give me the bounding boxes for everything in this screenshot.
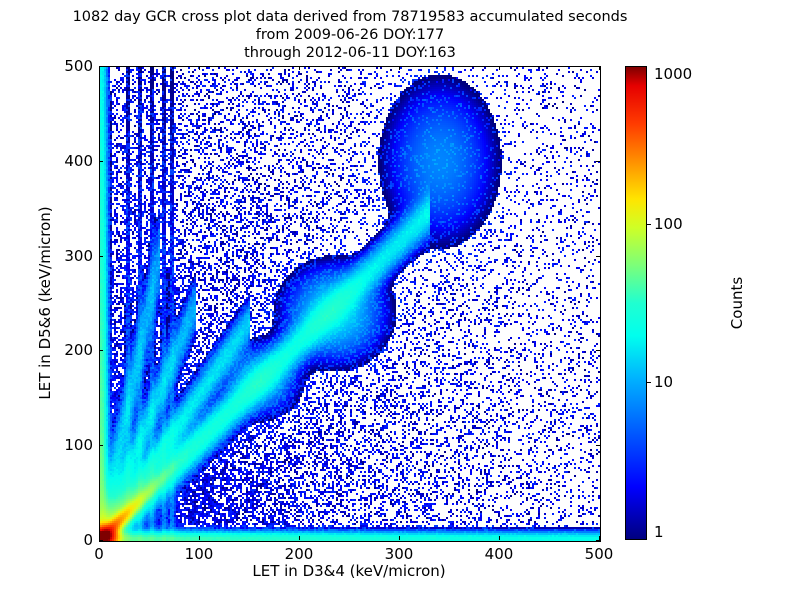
x-tick-mark [299, 536, 300, 540]
colorbar-gradient [625, 66, 647, 540]
x-tick-mark [399, 536, 400, 540]
colorbar-tick-mark [647, 382, 651, 383]
chart-title-line-2: from 2009-06-26 DOY:177 [0, 26, 700, 44]
y-tick-mark [99, 256, 103, 257]
y-axis-label: LET in D5&6 (keV/micron) [36, 66, 54, 540]
colorbar-tick-mark [647, 224, 651, 225]
y-tick-mark [99, 161, 103, 162]
y-tick-mark-right [596, 66, 600, 67]
colorbar-tick-label: 10 [654, 373, 673, 391]
y-tick-mark [99, 445, 103, 446]
x-tick-label: 500 [585, 545, 614, 563]
x-tick-label: 400 [485, 545, 514, 563]
x-tick-mark-top [299, 66, 300, 70]
colorbar-label: Counts [728, 66, 746, 540]
y-tick-mark-right [596, 161, 600, 162]
x-tick-label: 200 [285, 545, 314, 563]
colorbar-tick-label: 1000 [654, 65, 692, 83]
y-tick-mark-right [596, 445, 600, 446]
y-tick-mark [99, 350, 103, 351]
colorbar-tick-label: 1 [654, 523, 664, 541]
y-tick-mark [99, 540, 103, 541]
x-tick-mark [199, 536, 200, 540]
plot-area[interactable] [99, 66, 601, 542]
chart-title-line-1: 1082 day GCR cross plot data derived fro… [0, 8, 700, 26]
colorbar-tick-label: 100 [654, 215, 683, 233]
figure-canvas: 1082 day GCR cross plot data derived fro… [0, 0, 800, 600]
heatmap-image [100, 67, 600, 541]
y-tick-mark-right [596, 350, 600, 351]
colorbar[interactable]: 1101001000 [625, 66, 647, 540]
x-tick-label: 100 [185, 545, 214, 563]
chart-title: 1082 day GCR cross plot data derived fro… [0, 8, 700, 62]
x-tick-label: 300 [385, 545, 414, 563]
x-tick-mark [499, 536, 500, 540]
x-axis-label: LET in D3&4 (keV/micron) [99, 562, 599, 580]
x-tick-mark-top [399, 66, 400, 70]
chart-title-line-3: through 2012-06-11 DOY:163 [0, 44, 700, 62]
y-tick-mark-right [596, 256, 600, 257]
y-tick-mark [99, 66, 103, 67]
y-tick-mark-right [596, 540, 600, 541]
x-tick-mark-top [199, 66, 200, 70]
x-tick-mark-top [499, 66, 500, 70]
x-tick-label: 0 [94, 545, 104, 563]
